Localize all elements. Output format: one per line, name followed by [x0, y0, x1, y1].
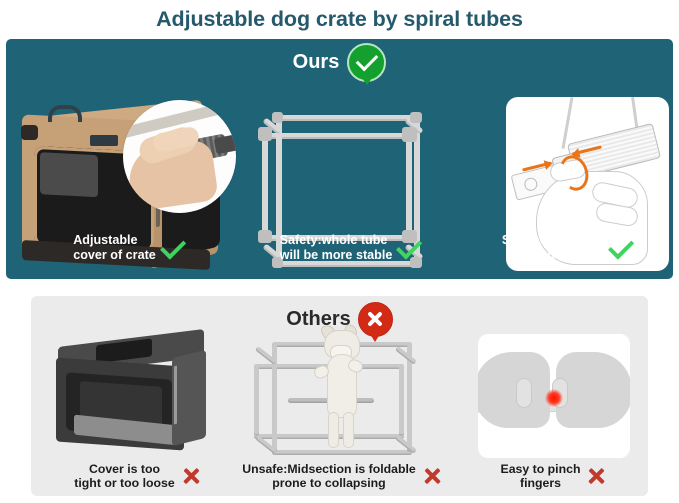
caption-text: Easy to pinch fingers: [501, 462, 581, 492]
caption-line-2: tight or too loose: [74, 476, 174, 491]
caption-line-1: Cover is too: [74, 462, 174, 477]
caption-text: Safe not to pinch fingers: [502, 233, 604, 263]
caption-text: Cover is too tight or too loose: [74, 462, 174, 492]
caption-line-2: fingers: [501, 476, 581, 491]
caption-foldable-midsection: Unsafe:Midsection is foldable prone to c…: [227, 462, 457, 492]
dog-hind-leg-right: [343, 412, 354, 448]
others-image-loose-cover: [40, 336, 216, 456]
lineart-frame-rod: [562, 97, 574, 149]
frame2-post-front-right: [399, 364, 404, 436]
pinch-injury-indicator: [545, 389, 563, 407]
frame-rail-front-top: [262, 133, 412, 139]
caption-loose-cover: Cover is too tight or too loose: [31, 462, 244, 492]
check-glyph: [356, 49, 379, 72]
frame2-depth-rail-top-right: [395, 346, 417, 365]
ours-section: Ours: [6, 39, 673, 279]
pinch-thumb-left: [516, 378, 532, 408]
caption-line-1: Easy to pinch: [501, 462, 581, 477]
black-crate-side: [172, 350, 206, 446]
green-check-circle-icon: [347, 43, 386, 82]
caption-line-2: will be more stable: [280, 248, 393, 263]
caption-text: Adjustable cover of crate: [73, 233, 156, 263]
frame-rail-back-top: [276, 115, 416, 121]
ours-heading-label: Ours: [293, 51, 340, 74]
ours-heading-group: Ours: [6, 42, 673, 82]
check-mark-icon: [396, 234, 422, 260]
caption-text: Safety:whole tube will be more stable: [280, 233, 393, 263]
caption-line-2: cover of crate: [73, 248, 156, 263]
page-title: Adjustable dog crate by spiral tubes: [0, 2, 679, 36]
others-image-foldable-midsection: [248, 338, 454, 458]
dog-hind-leg-left: [328, 412, 339, 448]
caption-pinch-fingers: Easy to pinch fingers: [459, 462, 648, 492]
dog-illustration: [318, 330, 364, 452]
crate-handle: [48, 105, 82, 122]
check-mark-icon: [160, 234, 186, 260]
x-mark-icon: [587, 467, 606, 486]
frame-joint: [258, 127, 272, 141]
others-section: Others: [31, 296, 648, 496]
others-heading-label: Others: [286, 308, 350, 331]
red-x-circle-icon: [358, 302, 393, 337]
x-glyph: [366, 310, 384, 328]
frame-post-front-left: [262, 135, 268, 237]
frame2-post-front-left: [254, 364, 259, 436]
others-heading-group: Others: [31, 302, 648, 336]
x-mark-icon: [182, 467, 201, 486]
x-mark-icon: [423, 467, 442, 486]
pinch-hand-left: [478, 352, 550, 428]
caption-no-pinch: Safe not to pinch fingers: [468, 233, 668, 263]
caption-line-1: Safety:whole tube: [280, 233, 393, 248]
frame-joint: [272, 112, 283, 123]
caption-line-1: Adjustable: [73, 233, 156, 248]
caption-line-2: prone to collapsing: [242, 476, 416, 491]
frame-joint: [410, 112, 422, 123]
frame-post-front-right: [406, 135, 412, 237]
caption-line-2: fingers: [502, 248, 604, 263]
others-image-pinch-fingers: [478, 334, 630, 458]
inset-closeup-circle: [123, 100, 236, 213]
frame-joint: [402, 127, 417, 142]
check-mark-icon: [608, 234, 634, 260]
caption-line-1: Unsafe:Midsection is foldable: [242, 462, 416, 477]
caption-line-1: Safe not to pinch: [502, 233, 604, 248]
crate-corner-cap: [21, 125, 38, 140]
caption-adjustable-cover: Adjustable cover of crate: [22, 233, 237, 263]
black-crate-zipper: [174, 366, 177, 425]
caption-text: Unsafe:Midsection is foldable prone to c…: [242, 462, 416, 492]
caption-whole-tube: Safety:whole tube will be more stable: [246, 233, 456, 263]
crate-brand-label: [90, 135, 118, 146]
infographic-page: Adjustable dog crate by spiral tubes Our…: [0, 0, 679, 503]
